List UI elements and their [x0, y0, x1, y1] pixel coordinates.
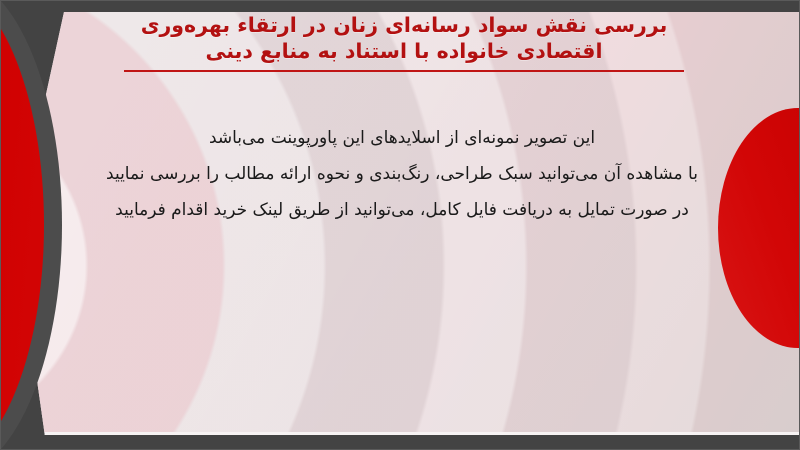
presentation-slide: بررسی نقش سواد رسانه‌ای زنان در ارتقاء ب… [0, 0, 800, 450]
body-line-1: این تصویر نمونه‌ای از اسلایدهای این پاور… [52, 120, 752, 156]
slide-text-layer: بررسی نقش سواد رسانه‌ای زنان در ارتقاء ب… [0, 0, 800, 450]
body-line-2: با مشاهده آن می‌توانید سبک طراحی، رنگ‌بن… [52, 156, 752, 192]
title-underline-rule [124, 70, 684, 72]
slide-title-line-2: اقتصادی خانواده با استناد به منابع دینی [104, 38, 704, 64]
slide-title: بررسی نقش سواد رسانه‌ای زنان در ارتقاء ب… [104, 12, 704, 72]
slide-title-line-1: بررسی نقش سواد رسانه‌ای زنان در ارتقاء ب… [104, 12, 704, 38]
body-line-3: در صورت تمایل به دریافت فایل کامل، می‌تو… [52, 192, 752, 228]
slide-body-text: این تصویر نمونه‌ای از اسلایدهای این پاور… [52, 120, 752, 228]
